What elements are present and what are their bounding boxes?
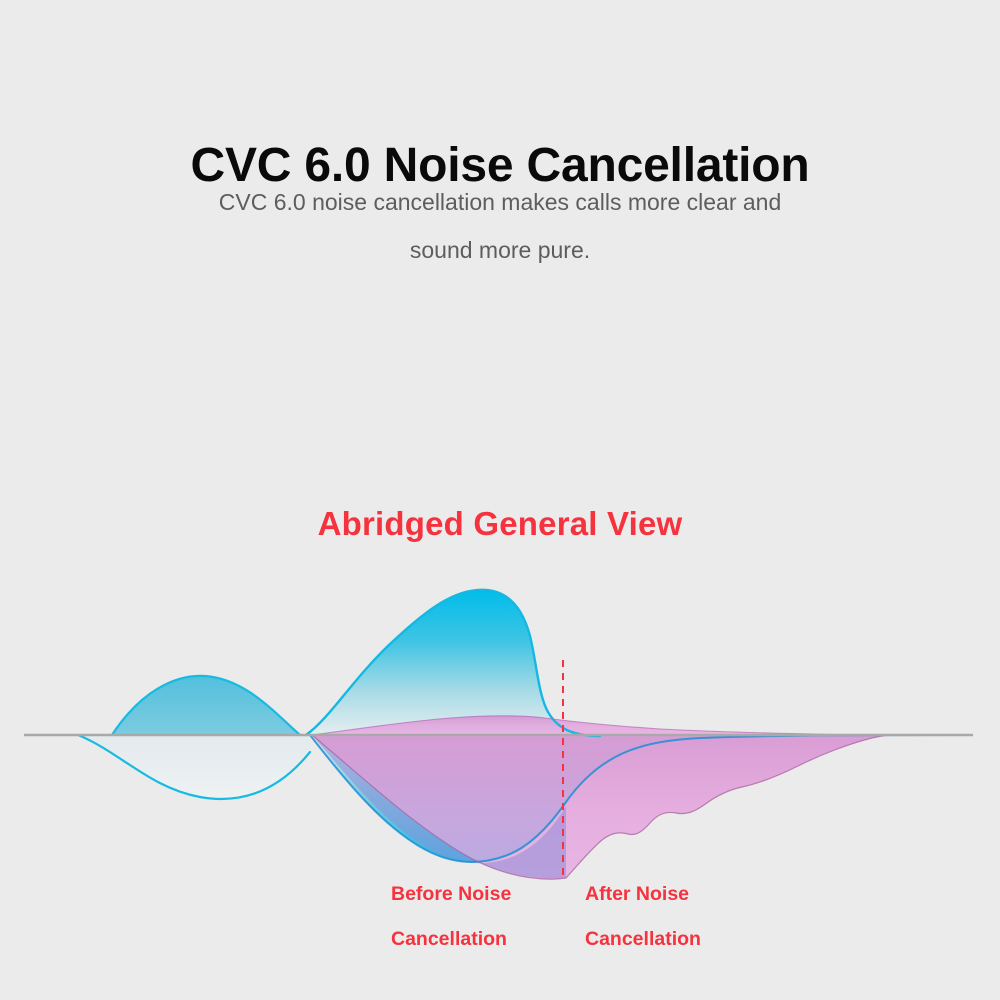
promo-page: CVC 6.0 Noise Cancellation CVC 6.0 noise… [0, 0, 1000, 1000]
waveform-chart [0, 540, 1000, 900]
page-subtitle-line-2: sound more pure. [160, 226, 840, 274]
caption-after-line-2: Cancellation [585, 917, 745, 962]
section-heading: Abridged General View [0, 505, 1000, 543]
caption-after-line-1: After Noise [585, 872, 745, 917]
caption-before-noise-cancellation: Before Noise Cancellation [391, 872, 551, 962]
cyan-main-peak-area [306, 590, 600, 736]
page-subtitle: CVC 6.0 noise cancellation makes calls m… [160, 178, 840, 274]
cyan-left-hump-area [112, 676, 300, 735]
caption-before-line-1: Before Noise [391, 872, 551, 917]
caption-before-line-2: Cancellation [391, 917, 551, 962]
page-subtitle-line-1: CVC 6.0 noise cancellation makes calls m… [160, 178, 840, 226]
cyan-left-trough-area [78, 735, 310, 799]
caption-after-noise-cancellation: After Noise Cancellation [585, 872, 745, 962]
pink-lower-area [312, 735, 890, 879]
